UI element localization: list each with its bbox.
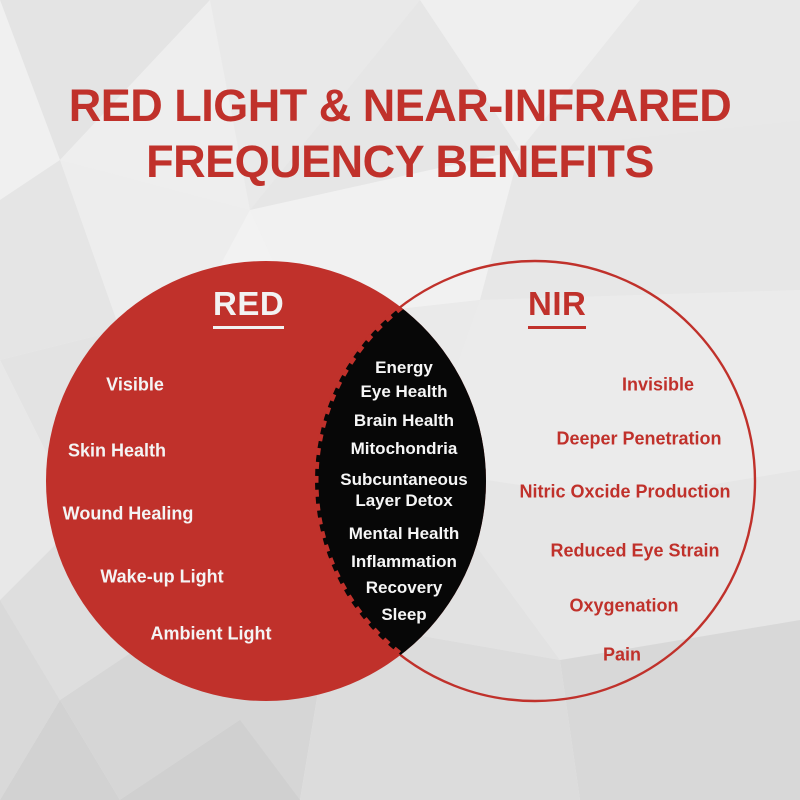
venn-item-overlap-8: Recovery (366, 578, 443, 598)
venn-item-nir-4: Oxygenation (569, 596, 678, 617)
venn-item-overlap-4: Subcuntaneous (340, 470, 468, 490)
venn-item-red-4: Ambient Light (151, 624, 272, 645)
venn-item-nir-0: Invisible (622, 375, 694, 396)
venn-item-overlap-3: Mitochondria (351, 439, 458, 459)
venn-item-red-2: Wound Healing (63, 504, 194, 525)
venn-label-red: RED (213, 285, 284, 329)
page-title: RED LIGHT & NEAR-INFRARED FREQUENCY BENE… (0, 78, 800, 190)
venn-label-nir-underline (528, 326, 586, 329)
venn-item-red-0: Visible (106, 375, 164, 396)
venn-label-nir-text: NIR (528, 285, 586, 322)
venn-item-nir-5: Pain (603, 645, 641, 666)
infographic-canvas: RED LIGHT & NEAR-INFRARED FREQUENCY BENE… (0, 0, 800, 800)
venn-item-red-3: Wake-up Light (100, 567, 223, 588)
venn-item-overlap-1: Eye Health (361, 382, 448, 402)
title-line-1: RED LIGHT & NEAR-INFRARED (0, 78, 800, 134)
venn-item-red-1: Skin Health (68, 441, 166, 462)
venn-item-overlap-6: Mental Health (349, 524, 460, 544)
venn-item-overlap-2: Brain Health (354, 411, 454, 431)
venn-item-nir-2: Nitric Oxcide Production (519, 482, 730, 503)
venn-item-overlap-7: Inflammation (351, 552, 457, 572)
venn-item-overlap-9: Sleep (381, 605, 426, 625)
venn-item-overlap-5: Layer Detox (355, 491, 452, 511)
venn-item-overlap-0: Energy (375, 358, 433, 378)
venn-item-nir-3: Reduced Eye Strain (550, 541, 719, 562)
venn-item-nir-1: Deeper Penetration (556, 429, 721, 450)
venn-label-red-text: RED (213, 285, 284, 322)
venn-label-red-underline (213, 326, 284, 329)
title-line-2: FREQUENCY BENEFITS (0, 134, 800, 190)
venn-label-nir: NIR (528, 285, 586, 329)
